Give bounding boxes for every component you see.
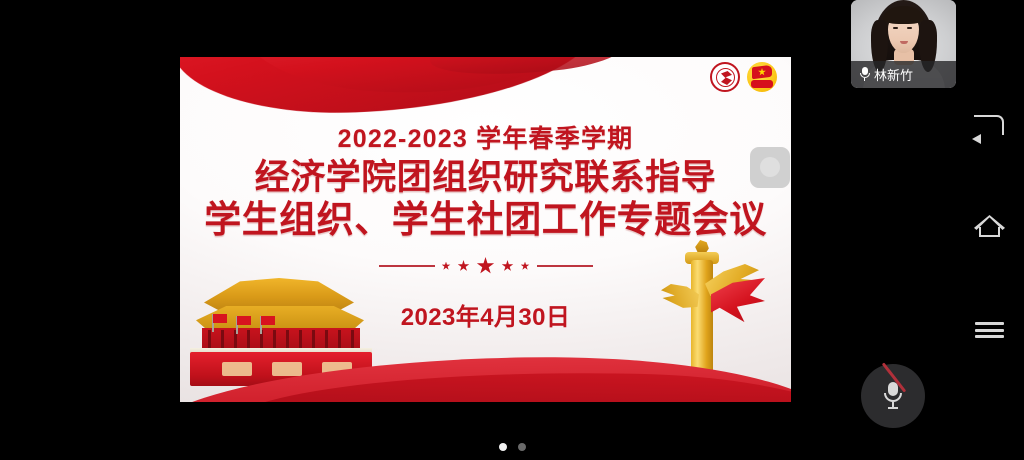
participant-name-bar: 林新竹	[851, 61, 956, 88]
communist-youth-league-logo-icon	[747, 62, 777, 92]
divider-line-right	[537, 265, 593, 267]
divider-star-1	[442, 262, 451, 271]
divider-star-5	[521, 262, 530, 271]
slide-subtitle: 2022-2023 学年春季学期	[180, 119, 791, 155]
status-bar	[0, 0, 851, 12]
divider-star-2	[458, 260, 470, 272]
participant-video-tile[interactable]: 林新竹	[851, 0, 956, 88]
university-seal-logo-icon	[710, 62, 740, 92]
tiananmen-gate-1	[222, 362, 252, 376]
league-star-icon	[758, 68, 766, 76]
hamburger-menu-icon	[975, 322, 1004, 338]
microphone-icon	[859, 67, 870, 82]
page-dot-inactive[interactable]	[518, 443, 526, 451]
mute-microphone-button[interactable]	[861, 364, 925, 428]
android-navigation-bar	[956, 0, 1024, 460]
back-arrow-icon	[974, 115, 1004, 135]
slide-logos	[710, 62, 777, 92]
slide-title: 经济学院团组织研究联系指导 学生组织、学生社团工作专题会议	[180, 157, 791, 242]
meeting-screen: 2022-2023 学年春季学期 经济学院团组织研究联系指导 学生组织、学生社团…	[0, 0, 1024, 460]
slide-title-line-1: 经济学院团组织研究联系指导	[180, 157, 791, 198]
divider-star-3	[477, 257, 495, 275]
tiananmen-gate-2	[272, 362, 302, 376]
star-divider	[180, 257, 791, 275]
back-button[interactable]	[970, 107, 1010, 147]
page-dot-active[interactable]	[499, 443, 507, 451]
participant-name: 林新竹	[874, 65, 913, 84]
home-icon	[974, 215, 1005, 237]
page-indicator	[0, 443, 1024, 451]
divider-star-4	[502, 260, 514, 272]
home-button[interactable]	[970, 206, 1010, 246]
divider-line-left	[379, 265, 435, 267]
menu-button[interactable]	[970, 310, 1010, 350]
slide-title-line-2: 学生组织、学生社团工作专题会议	[180, 198, 791, 242]
slide-date: 2023年4月30日	[180, 297, 791, 332]
floating-action-button[interactable]	[750, 147, 790, 188]
shared-slide[interactable]: 2022-2023 学年春季学期 经济学院团组织研究联系指导 学生组织、学生社团…	[180, 57, 791, 402]
